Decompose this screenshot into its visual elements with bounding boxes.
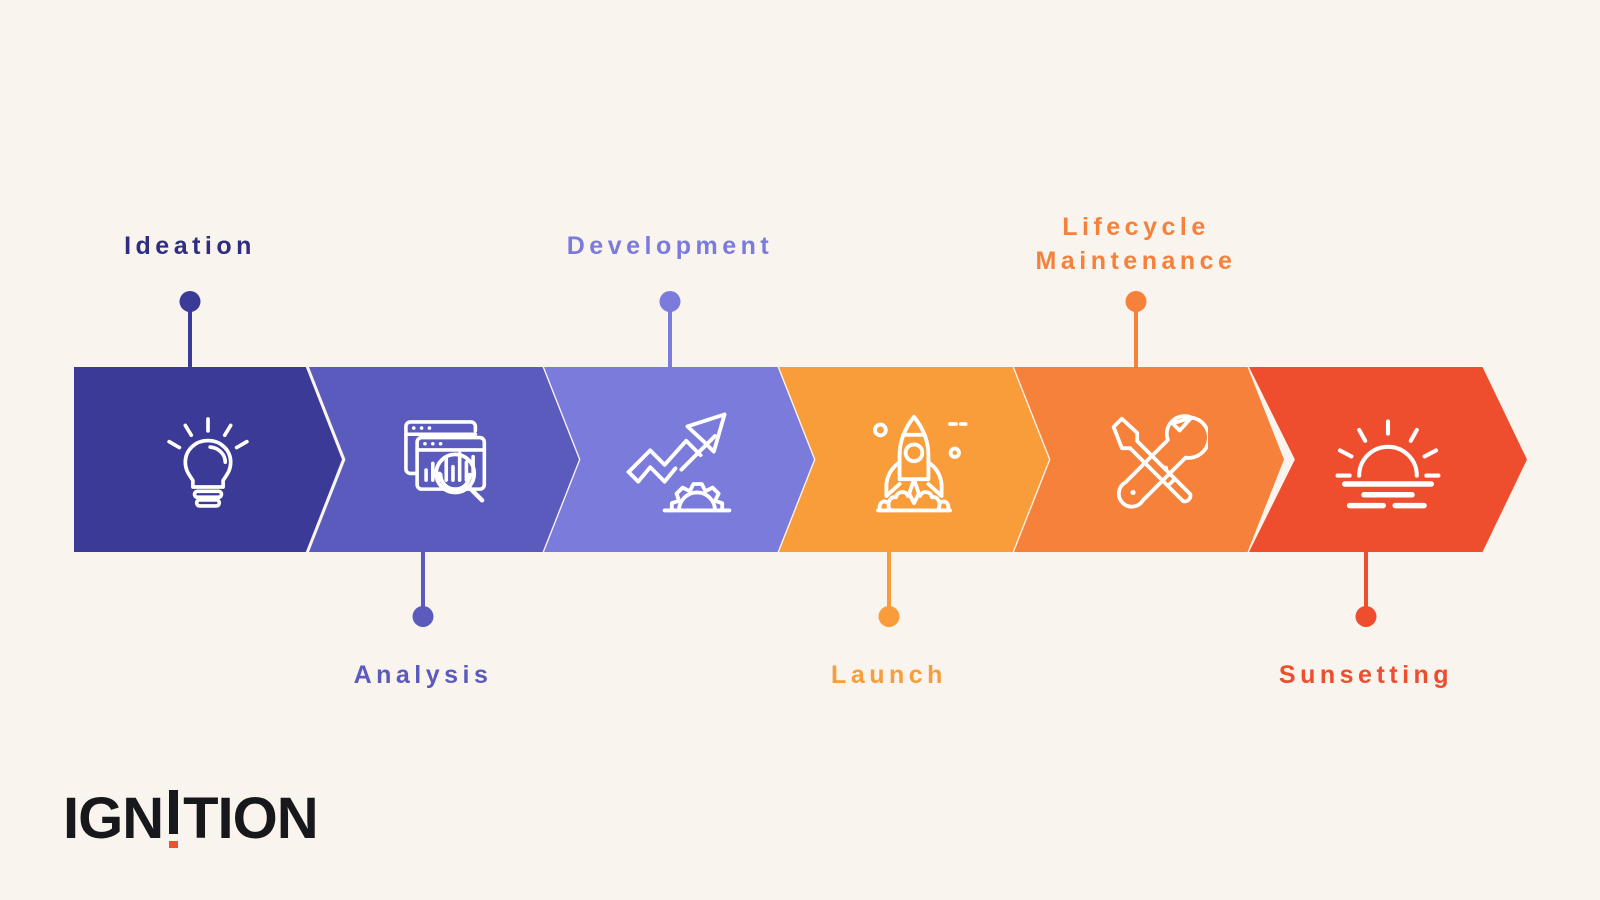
growth-gear-icon [619, 400, 739, 520]
rocket-icon [854, 400, 974, 520]
connector-line-development [668, 305, 672, 368]
data-analysis-icon [388, 404, 500, 516]
infographic-canvas: Ideation Analysis Development Launch Lif… [0, 0, 1600, 900]
ignition-logo[interactable]: IGN TION [63, 790, 318, 848]
stage-chevron-lifecycle-maintenance[interactable] [1014, 367, 1284, 552]
connector-dot-analysis [413, 606, 434, 627]
stage-chevron-launch[interactable] [779, 367, 1049, 552]
stage-label-development: Development [567, 230, 773, 264]
connector-dot-sunsetting [1356, 606, 1377, 627]
logo-text-part-one: IGN [63, 790, 163, 848]
tools-icon [1090, 401, 1208, 519]
stage-chevron-sunsetting[interactable] [1249, 367, 1527, 552]
connector-line-sunsetting [1364, 551, 1368, 613]
stage-label-launch: Launch [831, 659, 947, 693]
sunset-icon [1328, 400, 1448, 520]
connector-line-launch [887, 551, 891, 613]
stage-label-analysis: Analysis [354, 659, 493, 693]
lightbulb-icon [154, 406, 262, 514]
stage-chevron-development[interactable] [544, 367, 814, 552]
stage-chevron-analysis[interactable] [309, 367, 579, 552]
connector-dot-launch [879, 606, 900, 627]
stage-label-lifecycle-maintenance: Lifecycle Maintenance [1036, 211, 1237, 279]
process-chevron-band [74, 367, 1524, 552]
connector-line-ideation [188, 305, 192, 368]
connector-line-lifecycle-maintenance [1134, 305, 1138, 368]
connector-line-analysis [421, 551, 425, 613]
logo-text-part-two: TION [183, 790, 318, 848]
stage-label-sunsetting: Sunsetting [1279, 659, 1453, 693]
stage-label-ideation: Ideation [124, 230, 256, 264]
stage-chevron-ideation[interactable] [74, 367, 342, 552]
